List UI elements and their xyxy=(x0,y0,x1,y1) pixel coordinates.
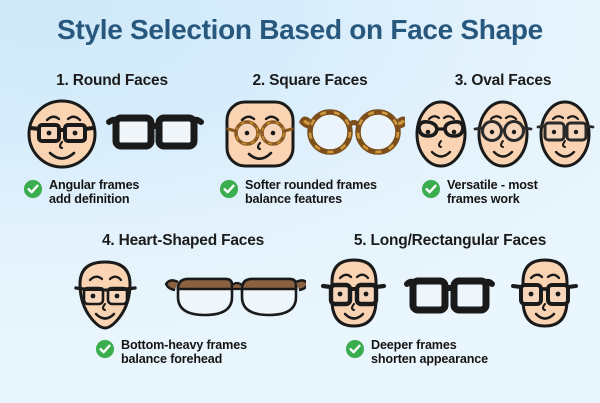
square-face-with-round-glasses xyxy=(227,102,293,166)
long-face-with-square-glasses xyxy=(513,260,576,326)
section-square-faces: 2. Square Faces xyxy=(212,72,408,207)
tip-row: Deeper frames shorten appearance xyxy=(346,338,590,367)
tip-row: Softer rounded frames balance features xyxy=(220,178,408,207)
section-heading: 1. Round Faces xyxy=(14,72,210,90)
check-circle-icon xyxy=(96,340,114,358)
illustration-group xyxy=(58,254,308,334)
long-face-with-deep-glasses xyxy=(323,260,384,326)
illustration-group xyxy=(212,94,408,172)
tip-text: Angular frames add definition xyxy=(49,178,139,207)
section-oval-faces: 3. Oval Faces xyxy=(410,72,596,207)
tip-text: Softer rounded frames balance features xyxy=(245,178,377,207)
section-round-faces: 1. Round Faces xyxy=(14,72,210,207)
check-circle-icon xyxy=(346,340,364,358)
thick-deep-rectangular-frames xyxy=(407,281,492,310)
thick-rectangular-frames xyxy=(109,118,201,146)
browline-frames xyxy=(166,279,306,315)
heart-face-with-browline-glasses xyxy=(76,262,135,328)
section-long-rectangular-faces: 5. Long/Rectangular Faces xyxy=(310,232,590,367)
oval-face-with-round-glasses xyxy=(475,102,531,166)
tip-row: Bottom-heavy frames balance forehead xyxy=(96,338,308,367)
oval-face-with-cateye-glasses xyxy=(417,102,465,166)
illustration-group xyxy=(310,254,590,334)
tip-text: Versatile - most frames work xyxy=(447,178,538,207)
tip-row: Angular frames add definition xyxy=(24,178,210,207)
section-heading: 3. Oval Faces xyxy=(410,72,596,90)
illustration-group xyxy=(14,94,210,172)
section-heading: 5. Long/Rectangular Faces xyxy=(310,232,590,250)
section-heart-shaped-faces: 4. Heart-Shaped Faces xyxy=(58,232,308,367)
section-heading: 4. Heart-Shaped Faces xyxy=(58,232,308,250)
infographic-poster: Style Selection Based on Face Shape 1. R… xyxy=(0,0,600,403)
illustration-group xyxy=(410,94,596,172)
check-circle-icon xyxy=(24,180,42,198)
tip-text: Deeper frames shorten appearance xyxy=(371,338,488,367)
section-heading: 2. Square Faces xyxy=(212,72,408,90)
round-face-with-angular-glasses xyxy=(29,101,95,167)
round-tortoise-frames xyxy=(301,112,405,152)
page-title: Style Selection Based on Face Shape xyxy=(0,14,600,46)
tip-row: Versatile - most frames work xyxy=(422,178,596,207)
tip-text: Bottom-heavy frames balance forehead xyxy=(121,338,247,367)
oval-face-with-square-glasses xyxy=(538,102,593,166)
check-circle-icon xyxy=(422,180,440,198)
check-circle-icon xyxy=(220,180,238,198)
